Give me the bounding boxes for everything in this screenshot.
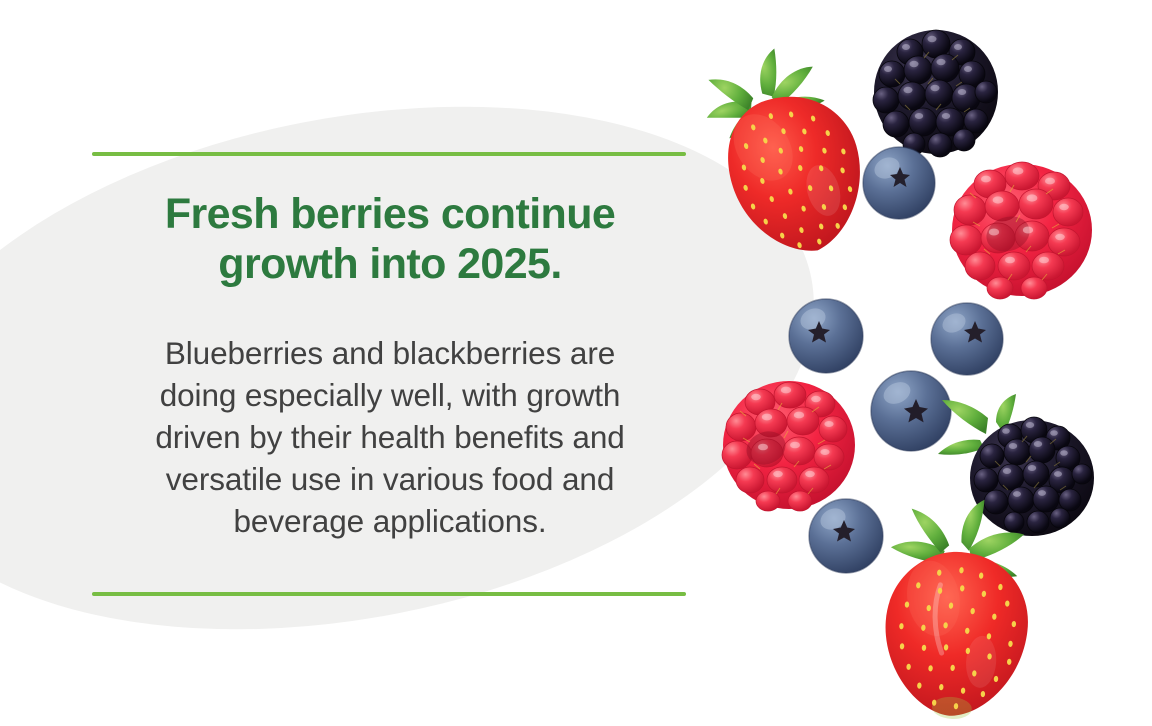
- headline-line-1: Fresh berries continue: [165, 190, 615, 238]
- blackberry-top-image: [866, 22, 1006, 162]
- text-block: Fresh berries continue growth into 2025.…: [92, 176, 688, 542]
- blueberry-upper-right-image: [860, 144, 938, 222]
- top-divider-rule: [92, 152, 686, 156]
- strawberry-bottom-image: [866, 500, 1046, 726]
- body-line-5: beverage applications.: [92, 500, 688, 542]
- headline-line-2: growth into 2025.: [92, 240, 688, 290]
- body-line-2: doing especially well, with growth: [92, 374, 688, 416]
- blueberry-mid-right-image: [928, 300, 1006, 378]
- blueberry-mid-left-image: [786, 296, 866, 376]
- body-line-4: versatile use in various food and: [92, 458, 688, 500]
- page-title: Fresh berries continue growth into 2025.: [92, 176, 688, 290]
- strawberry-top-image: [708, 48, 878, 268]
- raspberry-lower-image: [718, 374, 860, 516]
- bottom-divider-rule: [92, 592, 686, 596]
- poster-canvas: Fresh berries continue growth into 2025.…: [0, 0, 1152, 726]
- body-line-3: driven by their health benefits and: [92, 416, 688, 458]
- body-paragraph: Blueberries and blackberries are doing e…: [92, 294, 688, 542]
- raspberry-upper-image: [946, 154, 1098, 302]
- body-line-1: Blueberries and blackberries are: [92, 332, 688, 374]
